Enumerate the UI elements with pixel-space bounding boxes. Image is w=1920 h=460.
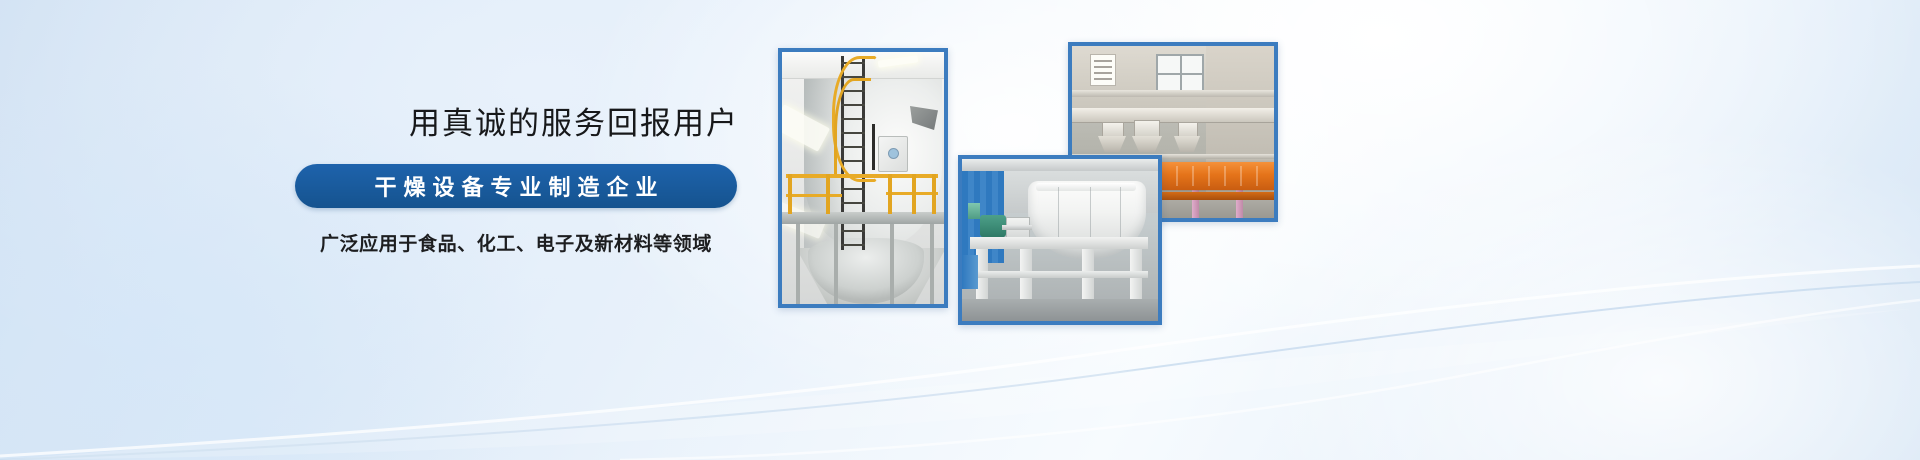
workshop-window xyxy=(1156,54,1204,92)
dryer-railing-post xyxy=(788,174,792,214)
dryer-ladder-cage xyxy=(834,78,871,177)
promo-banner: 用真诚的服务回报用户 干燥设备专业制造企业 广泛应用于食品、化工、电子及新材料等… xyxy=(0,0,1920,460)
mixer-frame-crossbar xyxy=(972,271,1148,278)
mixer-tank-lid xyxy=(1036,183,1136,191)
banner-tagline-pill: 干燥设备专业制造企业 xyxy=(295,164,737,208)
mixer-drive-shaft xyxy=(1002,225,1032,230)
banner-tagline-label: 干燥设备专业制造企业 xyxy=(367,170,664,202)
dryer-railing-post xyxy=(932,174,936,214)
banner-text-block: 用真诚的服务回报用户 干燥设备专业制造企业 广泛应用于食品、化工、电子及新材料等… xyxy=(295,104,815,258)
photo-spray-dryer-tower xyxy=(778,48,948,308)
wall-fixture xyxy=(968,203,980,219)
dryer-railing-post xyxy=(888,174,892,214)
dryer-platform-deck xyxy=(782,212,944,224)
equipment-hood xyxy=(1174,136,1200,152)
equipment-hood xyxy=(1098,136,1126,152)
workshop-floor xyxy=(962,299,1158,321)
structural-beam xyxy=(962,159,1158,171)
photo-ribbon-mixer-tank xyxy=(958,155,1162,325)
structural-beam xyxy=(1072,108,1274,123)
banner-subtitle: 广泛应用于食品、化工、电子及新材料等领域 xyxy=(295,232,737,258)
banner-headline: 用真诚的服务回报用户 xyxy=(295,104,815,144)
overhead-pipe xyxy=(1072,90,1274,97)
wall-notice-board xyxy=(1090,54,1116,86)
dryer-railing-post xyxy=(912,174,916,214)
dryer-sight-glass xyxy=(888,148,899,159)
dryer-railing-post xyxy=(826,174,830,214)
dryer-handrail xyxy=(786,194,842,197)
blue-drum-object xyxy=(962,255,978,289)
dryer-support-legs xyxy=(782,224,944,304)
light-bloom-decoration xyxy=(1250,120,1920,460)
equipment-hood xyxy=(1132,136,1162,152)
mixer-support-frame xyxy=(970,237,1148,249)
